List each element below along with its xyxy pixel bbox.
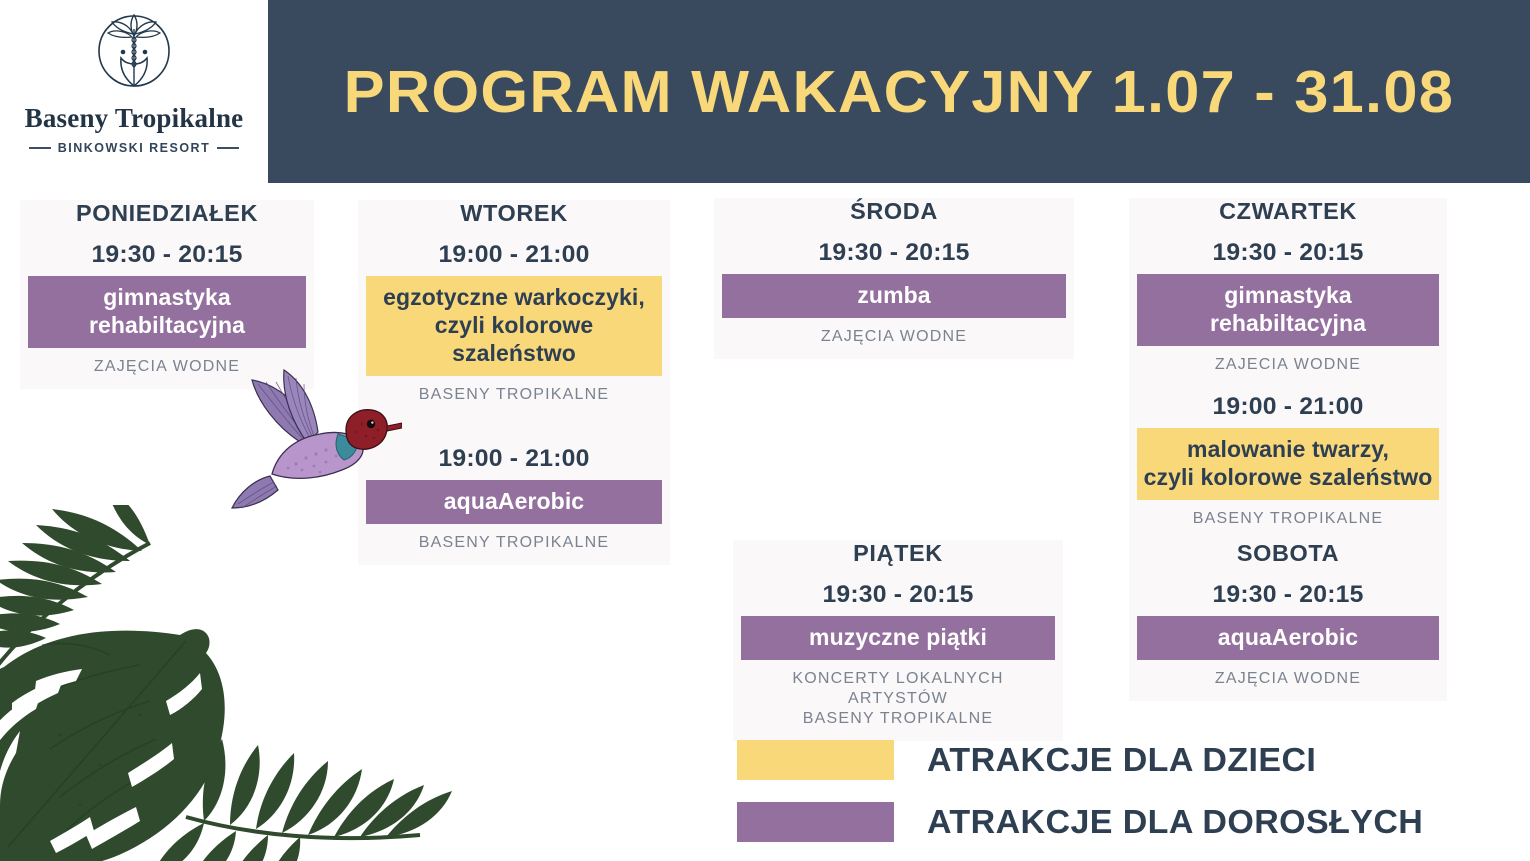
day-column-wtorek: WTOREK 19:00 - 21:00 egzotyczne warkoczy… [358,200,670,565]
event-title-line1: egzotyczne warkoczyki, [383,284,645,310]
page-title: PROGRAM WAKACYJNY 1.07 - 31.08 [344,58,1454,126]
event-block: 19:30 - 20:15 gimnastyka rehabiltacyjna … [28,241,306,377]
brand-subtitle-row: BINKOWSKI RESORT [29,141,239,155]
event-time: 19:30 - 20:15 [736,581,1059,609]
event-block: 19:30 - 20:15 zumba ZAJĘCIA WODNE [722,239,1066,347]
day-column-piatek: PIĄTEK 19:30 - 20:15 muzyczne piątki KON… [733,540,1063,741]
event-time: 19:00 - 21:00 [362,241,667,269]
event-title-bar: muzyczne piątki [741,616,1055,660]
day-column-poniedzialek: PONIEDZIAŁEK 19:30 - 20:15 gimnastyka re… [20,200,314,389]
event-title-line2: czyli kolorowe szaleństwo [1144,464,1433,490]
event-title-bar: aquaAerobic [1137,616,1439,660]
event-title-bar: gimnastyka rehabiltacyjna [28,276,306,348]
legend-label-adults: ATRAKCJE DLA DOROSŁYCH [927,803,1423,841]
event-title-line1: aquaAerobic [1218,624,1358,650]
event-time: 19:30 - 20:15 [1132,581,1443,609]
event-title-bar: gimnastyka rehabiltacyjna [1137,274,1439,346]
event-venue: BASENY TROPIKALNE [366,385,662,405]
event-block: 19:30 - 20:15 muzyczne piątki KONCERTY L… [741,581,1055,729]
event-block: 19:00 - 21:00 egzotyczne warkoczyki, czy… [366,241,662,405]
brand-name: Baseny Tropikalne [25,105,244,132]
legend-label-kids: ATRAKCJE DLA DZIECI [927,741,1316,779]
event-venue: ZAJĘCIA WODNE [1137,669,1439,689]
event-venue: BASENY TROPIKALNE [366,533,662,553]
event-title-line1: muzyczne piątki [809,624,987,650]
event-block: 19:00 - 21:00 malowanie twarzy, czyli ko… [1137,393,1439,529]
day-column-sroda: ŚRODA 19:30 - 20:15 zumba ZAJĘCIA WODNE [714,198,1074,359]
legend-item-kids: ATRAKCJE DLA DZIECI [737,738,1497,782]
day-name-sobota: SOBOTA [1134,540,1442,567]
event-venue: KONCERTY LOKALNYCH ARTYSTÓW BASENY TROPI… [741,669,1055,729]
event-block: 19:00 - 21:00 aquaAerobic BASENY TROPIKA… [366,445,662,553]
event-title-line2: czyli kolorowe szaleństwo [435,312,594,366]
event-venue: ZAJECIA WODNE [1137,355,1439,375]
event-venue: ZAJĘCIA WODNE [28,357,306,377]
event-title-bar: zumba [722,274,1066,318]
day-name-wtorek: WTOREK [363,200,665,227]
event-title-line1: zumba [857,282,930,308]
brand-logo: Baseny Tropikalne BINKOWSKI RESORT [0,0,268,183]
day-name-czwartek: CZWARTEK [1134,198,1442,225]
day-column-sobota: SOBOTA 19:30 - 20:15 aquaAerobic ZAJĘCIA… [1129,540,1447,701]
day-name-sroda: ŚRODA [719,198,1070,225]
event-time: 19:30 - 20:15 [717,239,1071,267]
brand-subtitle: BINKOWSKI RESORT [58,141,210,155]
event-venue: ZAJĘCIA WODNE [722,327,1066,347]
legend-swatch-kids [737,740,894,780]
event-block: 19:30 - 20:15 aquaAerobic ZAJĘCIA WODNE [1137,581,1439,689]
event-title-bar: malowanie twarzy, czyli kolorowe szaleńs… [1137,428,1439,500]
divider-left [29,147,51,149]
event-time: 19:30 - 20:15 [1132,239,1443,267]
event-title-line1: gimnastyka [103,284,231,310]
legend-item-adults: ATRAKCJE DLA DOROSŁYCH [737,800,1497,844]
legend: ATRAKCJE DLA DZIECI ATRAKCJE DLA DOROSŁY… [737,738,1497,861]
event-title-line2: rehabiltacyjna [89,312,245,338]
event-title-bar: aquaAerobic [366,480,662,524]
event-venue: BASENY TROPIKALNE [1137,509,1439,529]
event-time: 19:00 - 21:00 [1132,393,1443,421]
poster-canvas: PROGRAM WAKACYJNY 1.07 - 31.08 Baseny Tr… [0,0,1530,861]
event-title-line2: rehabiltacyjna [1210,310,1366,336]
header-bar: PROGRAM WAKACYJNY 1.07 - 31.08 [268,0,1530,183]
day-column-czwartek: CZWARTEK 19:30 - 20:15 gimnastyka rehabi… [1129,198,1447,541]
legend-swatch-adults [737,802,894,842]
event-block: 19:30 - 20:15 gimnastyka rehabiltacyjna … [1137,239,1439,375]
day-name-piatek: PIĄTEK [738,540,1058,567]
event-venue-line1: KONCERTY LOKALNYCH ARTYSTÓW [792,670,1003,707]
event-title-line1: gimnastyka [1224,282,1352,308]
event-title-line1: malowanie twarzy, [1187,436,1389,462]
tropical-plant-emblem-icon [84,4,184,104]
event-title-line1: aquaAerobic [444,488,584,514]
event-time: 19:00 - 21:00 [362,445,667,473]
day-name-poniedzialek: PONIEDZIAŁEK [25,200,309,227]
event-time: 19:30 - 20:15 [24,241,310,269]
divider-right [217,147,239,149]
event-venue-line2: BASENY TROPIKALNE [803,710,994,727]
event-title-bar: egzotyczne warkoczyki, czyli kolorowe sz… [366,276,662,376]
